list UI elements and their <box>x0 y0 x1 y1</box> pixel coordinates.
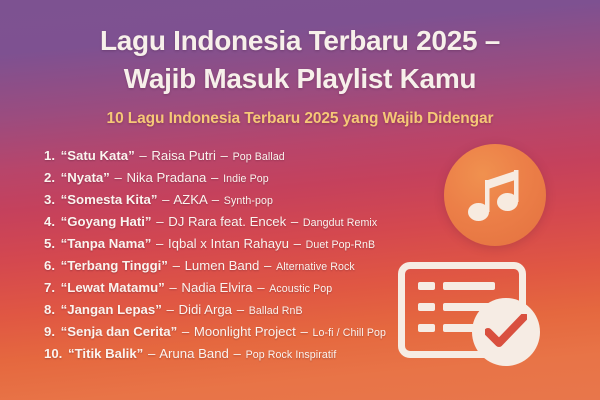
song-artist: Raisa Putri <box>151 148 216 163</box>
song-index: 3. <box>44 192 55 207</box>
checklist-card <box>398 262 566 368</box>
song-genre-separator: – <box>236 302 245 317</box>
song-title: “Lewat Matamu” <box>61 280 165 295</box>
song-genre: Pop Rock Inspiratif <box>246 349 337 361</box>
song-index: 5. <box>44 236 55 251</box>
song-genre-separator: – <box>220 148 229 163</box>
song-genre: Lo-fi / Chill Pop <box>312 327 386 339</box>
page-title-line-2: Wajib Masuk Playlist Kamu <box>0 60 600 98</box>
song-artist: Moonlight Project <box>194 324 296 339</box>
song-genre: Dangdut Remix <box>303 217 377 229</box>
checklist-row-marker <box>418 303 435 311</box>
song-genre-separator: – <box>256 280 265 295</box>
song-genre: Pop Ballad <box>233 151 285 163</box>
song-list-item: 4. “Goyang Hati” – DJ Rara feat. Encek –… <box>44 211 514 233</box>
song-genre-separator: – <box>299 324 308 339</box>
song-genre-separator: – <box>290 214 299 229</box>
song-index: 1. <box>44 148 55 163</box>
song-genre-separator: – <box>211 192 220 207</box>
song-title: “Senja dan Cerita” <box>61 324 178 339</box>
song-genre: Ballad RnB <box>249 305 303 317</box>
song-title: “Tanpa Nama” <box>61 236 152 251</box>
song-list-item: 5. “Tanpa Nama” – Iqbal x Intan Rahayu –… <box>44 233 514 255</box>
song-separator: – <box>181 324 190 339</box>
song-separator: – <box>155 236 164 251</box>
song-genre: Alternative Rock <box>276 261 355 273</box>
song-artist: Didi Arga <box>179 302 233 317</box>
song-artist: Aruna Band <box>159 346 229 361</box>
song-title: “Titik Balik” <box>68 346 143 361</box>
song-genre-separator: – <box>233 346 242 361</box>
song-index: 2. <box>44 170 55 185</box>
check-mark-icon <box>485 314 527 350</box>
song-list-item: 1. “Satu Kata” – Raisa Putri – Pop Balla… <box>44 145 514 167</box>
music-note-icon <box>468 164 524 226</box>
song-title: “Satu Kata” <box>61 148 135 163</box>
check-badge <box>472 298 540 366</box>
song-index: 9. <box>44 324 55 339</box>
checklist-row <box>418 282 495 290</box>
song-index: 4. <box>44 214 55 229</box>
song-genre: Duet Pop-RnB <box>306 239 376 251</box>
song-genre: Acoustic Pop <box>269 283 332 295</box>
song-separator: – <box>165 302 174 317</box>
checklist-row-marker <box>418 282 435 290</box>
song-title: “Nyata” <box>61 170 110 185</box>
song-artist: DJ Rara feat. Encek <box>168 214 286 229</box>
song-genre-separator: – <box>263 258 272 273</box>
song-separator: – <box>168 280 177 295</box>
song-title: “Jangan Lepas” <box>61 302 162 317</box>
song-artist: Iqbal x Intan Rahayu <box>168 236 289 251</box>
song-artist: Nadia Elvira <box>181 280 252 295</box>
checklist-row-marker <box>418 324 435 332</box>
song-title: “Terbang Tinggi” <box>61 258 168 273</box>
song-artist: Lumen Band <box>185 258 260 273</box>
song-list-item: 2. “Nyata” – Nika Pradana – Indie Pop <box>44 167 514 189</box>
song-artist: Nika Pradana <box>126 170 206 185</box>
heading-block: Lagu Indonesia Terbaru 2025 – Wajib Masu… <box>0 22 600 129</box>
song-title: “Somesta Kita” <box>61 192 158 207</box>
song-title: “Goyang Hati” <box>61 214 152 229</box>
song-separator: – <box>138 148 147 163</box>
song-separator: – <box>161 192 170 207</box>
song-genre: Indie Pop <box>223 173 269 185</box>
song-artist: AZKA <box>173 192 207 207</box>
song-separator: – <box>113 170 122 185</box>
song-index: 8. <box>44 302 55 317</box>
song-separator: – <box>155 214 164 229</box>
song-separator: – <box>147 346 156 361</box>
song-separator: – <box>172 258 181 273</box>
page-subtitle: 10 Lagu Indonesia Terbaru 2025 yang Waji… <box>0 109 600 129</box>
song-genre-separator: – <box>293 236 302 251</box>
song-index: 6. <box>44 258 55 273</box>
song-genre: Synth-pop <box>224 195 273 207</box>
song-genre-separator: – <box>210 170 219 185</box>
music-note-badge <box>444 144 546 246</box>
poster-canvas: Lagu Indonesia Terbaru 2025 – Wajib Masu… <box>0 0 600 400</box>
song-index: 10. <box>44 346 62 361</box>
page-title-line-1: Lagu Indonesia Terbaru 2025 – <box>0 22 600 60</box>
checklist-row-bar <box>443 282 495 290</box>
song-index: 7. <box>44 280 55 295</box>
